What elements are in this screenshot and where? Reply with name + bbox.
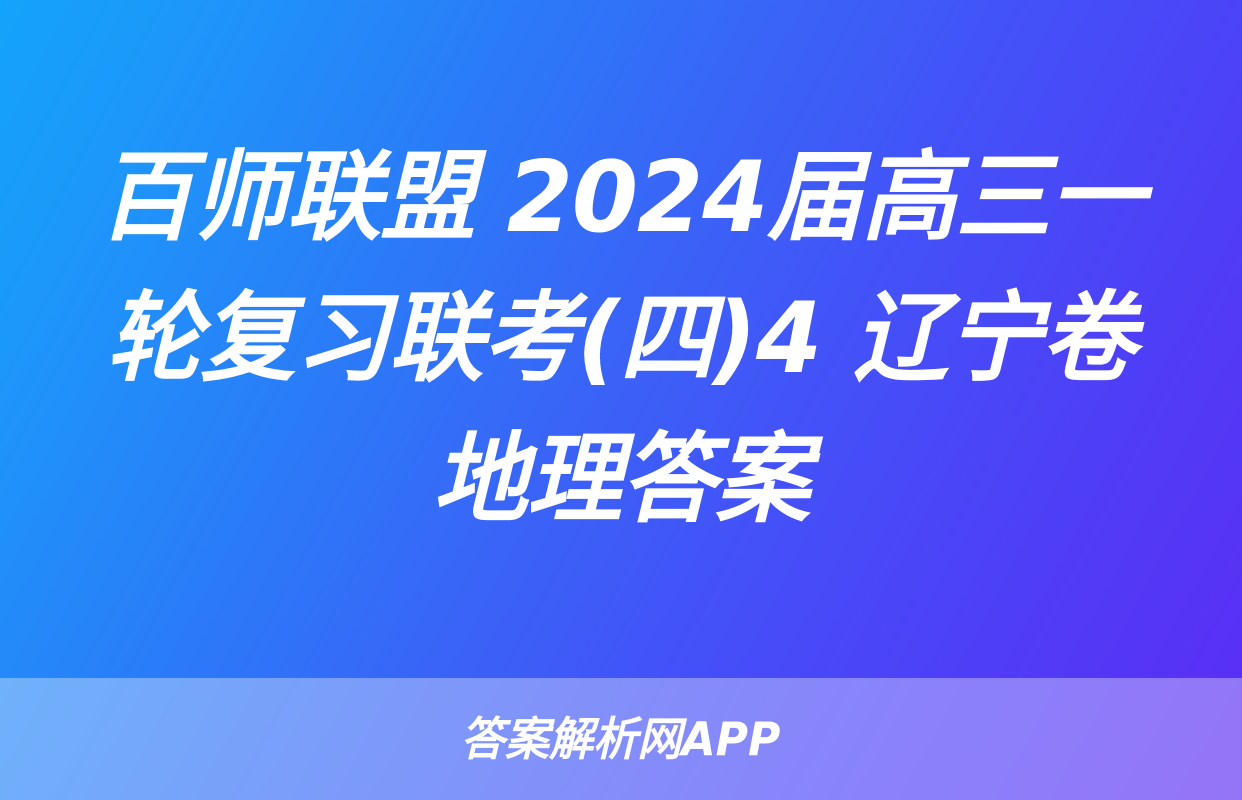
title-line-1: 百师联盟 2024届高三一 [75,128,1167,269]
watermark-label: 答案解析网APP [461,713,781,765]
watermark-band: 答案解析网APP [0,678,1242,800]
title-line-2: 轮复习联考(四)4 辽宁卷 [75,269,1167,410]
title-line-3: 地理答案 [75,410,1167,551]
title-block: 百师联盟 2024届高三一 轮复习联考(四)4 辽宁卷 地理答案 [0,0,1242,678]
poster-card: 百师联盟 2024届高三一 轮复习联考(四)4 辽宁卷 地理答案 答案解析网AP… [0,0,1242,800]
